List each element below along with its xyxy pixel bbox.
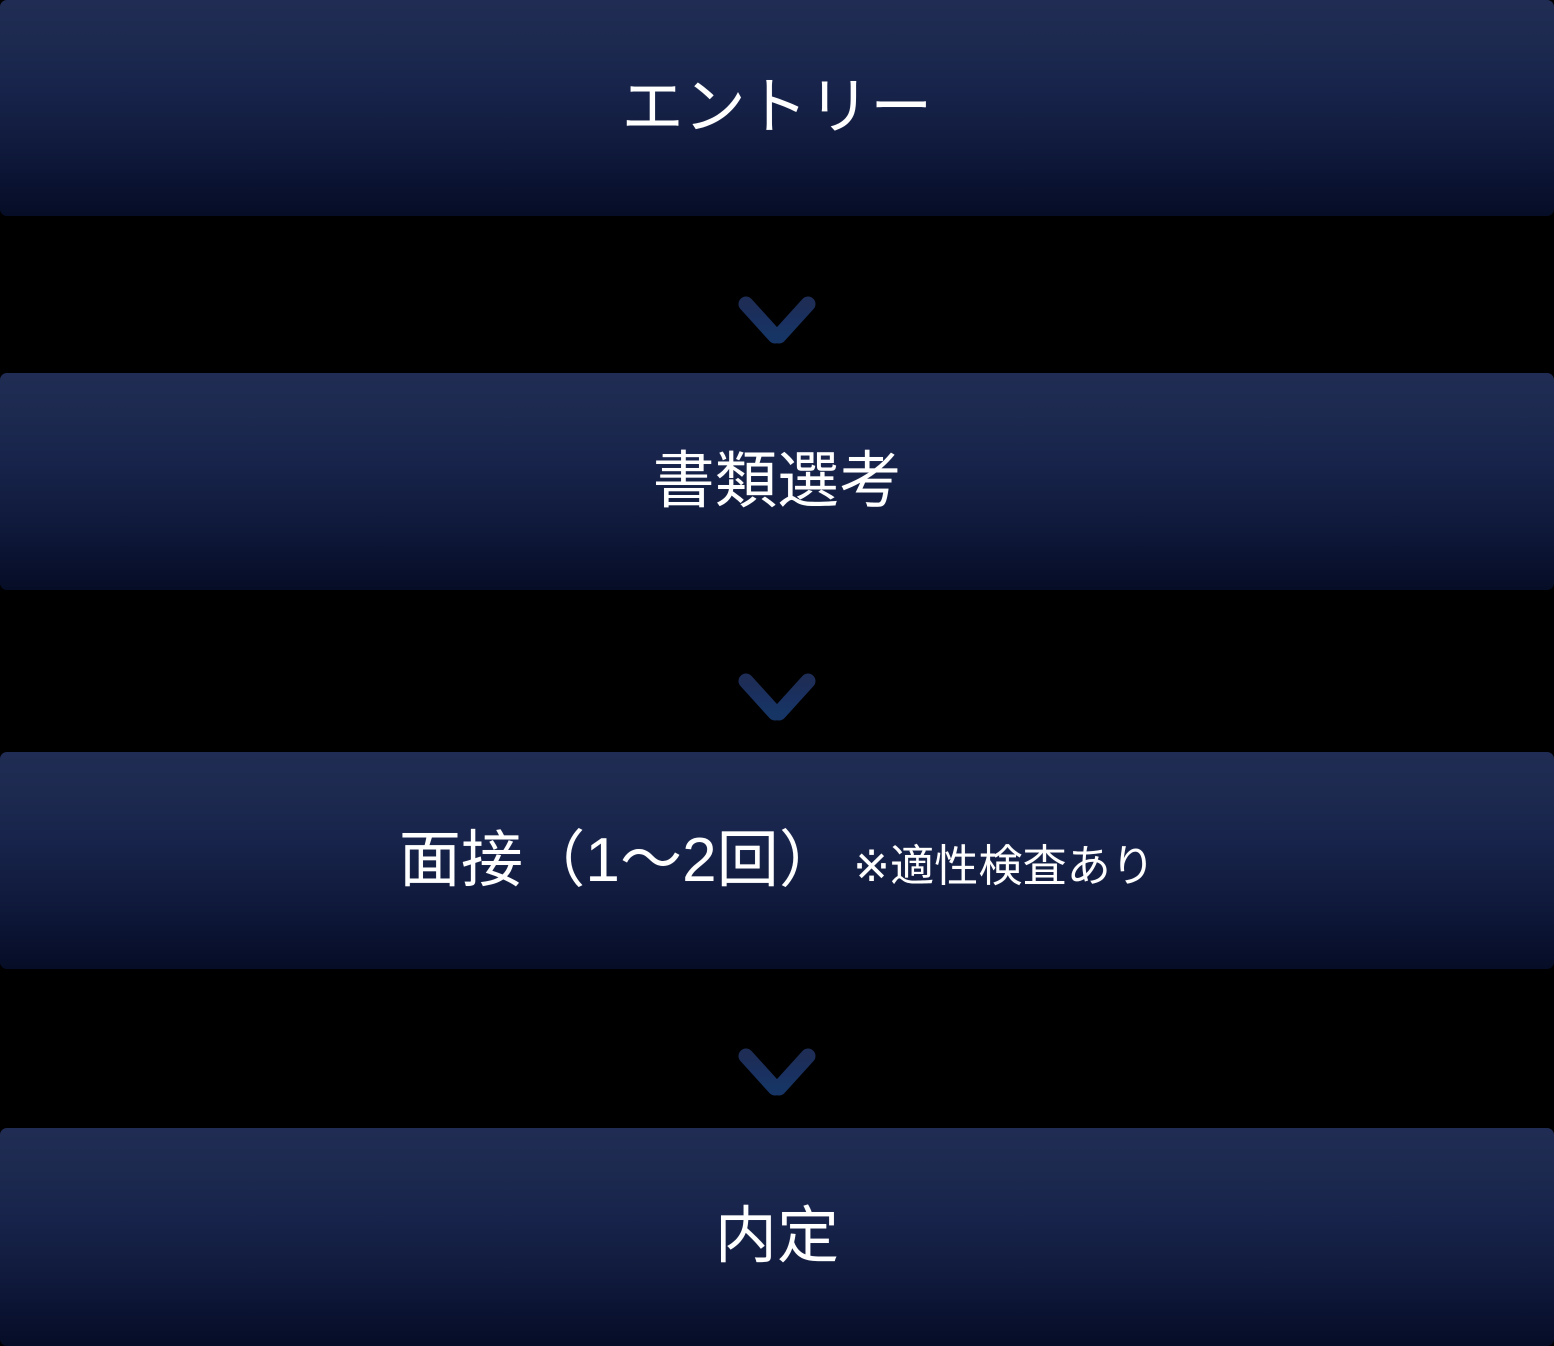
flow-step-entry-text: エントリー [622,77,933,139]
flow-step-entry-label: エントリー [622,77,933,139]
flow-step-interview-text: 面接（1〜2回） [399,830,841,892]
arrow-down-icon-2 [729,625,825,729]
arrow-down-icon-3 [729,1000,825,1104]
selection-flow-diagram: エントリー 書類選考 [0,0,1554,1346]
flow-step-document-screening: 書類選考 [0,373,1554,590]
flow-step-entry: エントリー [0,0,1554,216]
flow-step-interview-note: ※適性検査あり [853,845,1155,889]
flow-step-offer-text: 内定 [715,1206,839,1268]
flow-step-document-screening-label: 書類選考 [653,451,902,513]
arrow-down-icon-1 [729,248,825,352]
flow-step-interview: 面接（1〜2回） ※適性検査あり [0,752,1554,969]
flow-step-interview-label: 面接（1〜2回） ※適性検査あり [399,830,1155,892]
flow-step-document-screening-text: 書類選考 [653,451,902,513]
flow-step-offer: 内定 [0,1128,1554,1346]
flow-step-offer-label: 内定 [715,1206,839,1268]
